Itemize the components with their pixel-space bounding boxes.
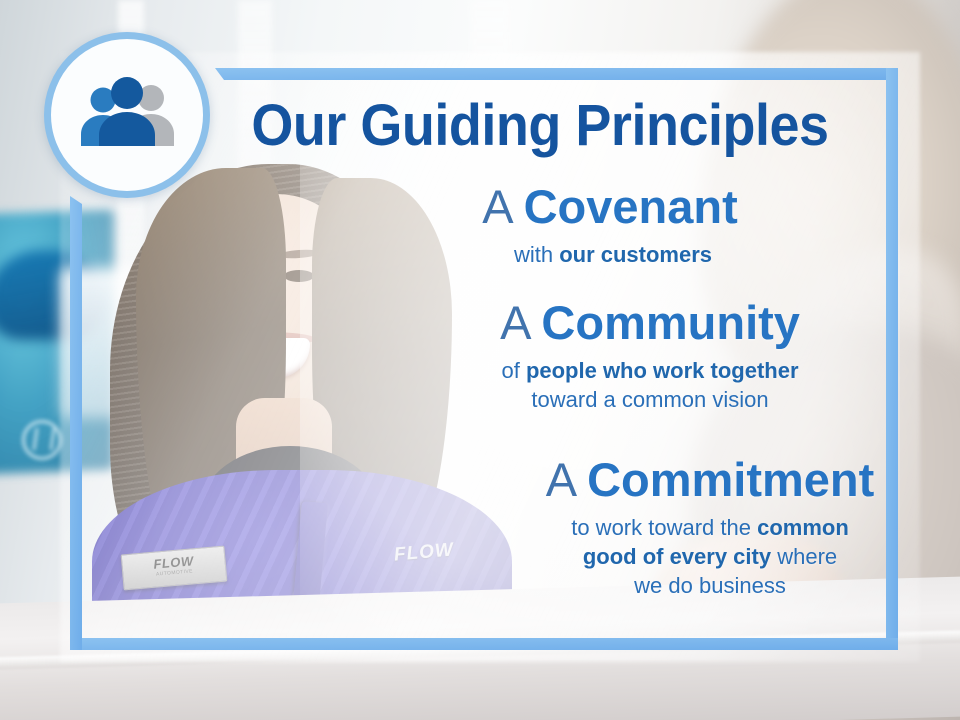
page-title: Our Guiding Principles <box>233 92 847 159</box>
article-word: A <box>546 453 577 506</box>
subtext-part-bold: our customers <box>559 242 712 267</box>
principle-community-subtext: of people who work together toward a com… <box>370 356 930 414</box>
subtext-part: to work toward the <box>571 515 757 540</box>
poster-brand-logo <box>22 420 62 460</box>
principle-covenant: ACovenant with our customers <box>330 182 890 269</box>
subtext-part: of <box>501 358 525 383</box>
subtext-part-bold: common <box>757 515 849 540</box>
subtext-part-bold: people who work together <box>526 358 799 383</box>
article-word: A <box>500 296 531 349</box>
principle-keyword: Covenant <box>524 180 738 233</box>
principle-community-heading: ACommunity <box>370 298 930 347</box>
banner-canvas: FLOW FLOW AUTOMOTIVE <box>0 0 960 720</box>
subtext-part: with <box>514 242 559 267</box>
people-badge <box>44 32 210 198</box>
principle-covenant-subtext: with our customers <box>330 240 890 269</box>
principle-covenant-heading: ACovenant <box>330 182 890 231</box>
subtext-part: where <box>771 544 837 569</box>
principle-commitment: ACommitment to work toward the common go… <box>430 455 960 600</box>
subtext-part-bold: good of every city <box>583 544 771 569</box>
subtext-part: toward a common vision <box>531 387 768 412</box>
principle-keyword: Commitment <box>587 453 874 506</box>
principle-community: ACommunity of people who work together t… <box>370 298 930 414</box>
people-group-icon <box>75 76 179 154</box>
article-word: A <box>482 180 513 233</box>
principle-commitment-heading: ACommitment <box>430 455 960 504</box>
principle-keyword: Community <box>541 296 800 349</box>
subtext-part: we do business <box>634 573 786 598</box>
principle-commitment-subtext: to work toward the common good of every … <box>430 513 960 600</box>
